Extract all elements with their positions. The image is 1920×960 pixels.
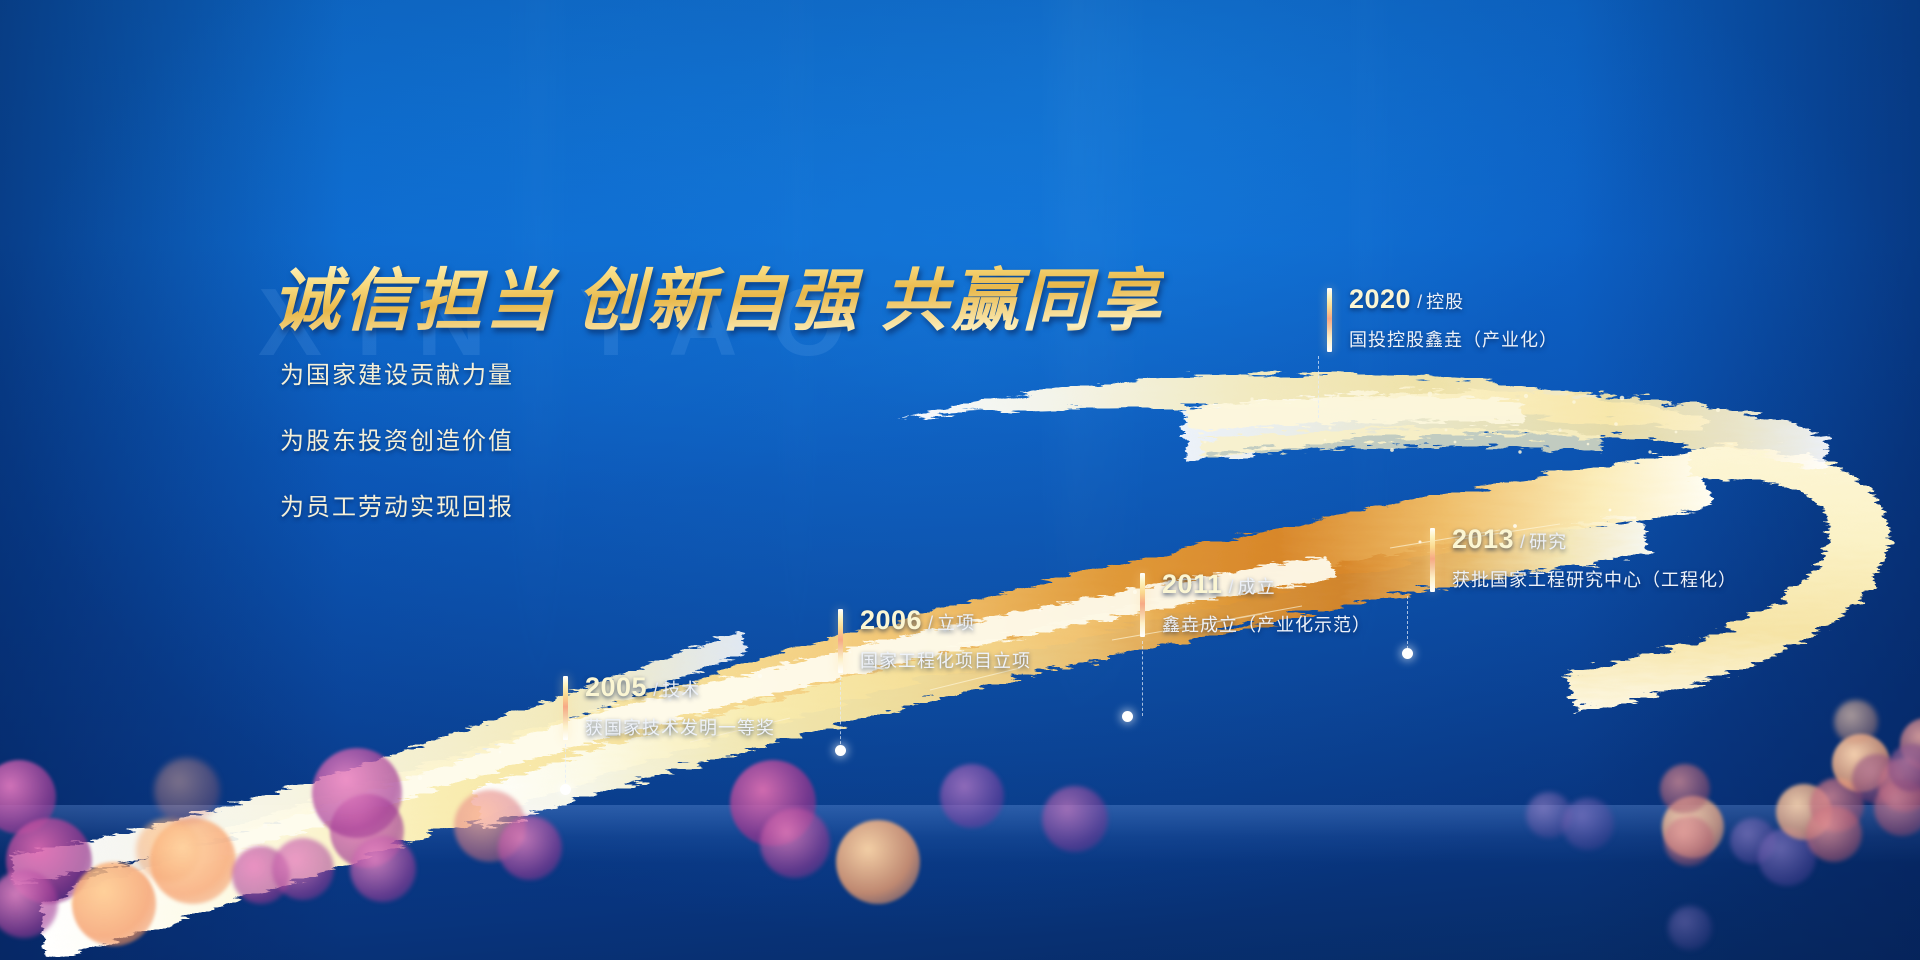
timeline-headline: 2013/研究 [1452,526,1737,553]
timeline-year: 2020 [1349,284,1411,314]
timeline-separator: / [1417,292,1422,312]
timeline-marker-dot-2005[interactable] [560,784,571,795]
timeline-leader-line-2006 [840,677,841,749]
timeline-description: 鑫垚成立（产业化示范） [1162,611,1371,637]
timeline-leader-line-2020 [1318,356,1319,418]
timeline-accent-bar [838,609,843,673]
timeline-accent-bar [563,676,568,740]
slogan-item: 为员工劳动实现回报 [280,487,514,522]
timeline-description: 获批国家工程研究中心（工程化） [1452,566,1737,592]
slogan-item: 为国家建设贡献力量 [280,355,514,390]
timeline-headline: 2005/技术 [585,674,775,701]
poster-canvas: XIN YAO 诚信担当 创新自强 共赢同享 为国家建设贡献力量 为股东投资创造… [0,0,1920,960]
timeline-description: 国家工程化项目立项 [860,647,1031,673]
timeline-entry-2020[interactable]: 2020/控股 国投控股鑫垚（产业化） [1327,286,1558,352]
timeline-tag: 控股 [1426,292,1464,312]
timeline-leader-line-2005 [565,744,566,788]
timeline-description: 国投控股鑫垚（产业化） [1349,326,1558,352]
slogan-list: 为国家建设贡献力量 为股东投资创造价值 为员工劳动实现回报 [280,355,514,553]
timeline-headline: 2006/立项 [860,607,1031,634]
timeline-entry-2005[interactable]: 2005/技术 获国家技术发明一等奖 [563,674,775,740]
timeline-leader-line-2013 [1407,596,1408,654]
timeline-marker-dot-2013[interactable] [1402,648,1413,659]
timeline-entry-2006[interactable]: 2006/立项 国家工程化项目立项 [838,607,1031,673]
timeline-year: 2013 [1452,524,1514,554]
slogan-item: 为股东投资创造价值 [280,421,514,456]
timeline-accent-bar [1140,573,1145,637]
timeline-separator: / [653,680,658,700]
timeline-marker-dot-2006[interactable] [835,745,846,756]
timeline-leader-line-2011 [1142,641,1143,716]
timeline-year: 2005 [585,672,647,702]
timeline-description: 获国家技术发明一等奖 [585,714,775,740]
timeline-tag: 立项 [937,613,975,633]
timeline-accent-bar [1327,288,1332,352]
timeline-year: 2011 [1162,569,1223,599]
timeline-separator: / [928,613,933,633]
timeline-entry-2011[interactable]: 2011/成立 鑫垚成立（产业化示范） [1140,571,1371,637]
page-title: 诚信担当 创新自强 共赢同享 [272,245,1164,344]
timeline-headline: 2020/控股 [1349,286,1558,313]
timeline-accent-bar [1430,528,1435,592]
timeline-year: 2006 [860,605,922,635]
timeline-tag: 成立 [1238,577,1276,597]
timeline-tag: 技术 [662,680,700,700]
timeline-headline: 2011/成立 [1162,571,1371,598]
timeline-separator: / [1229,577,1234,597]
timeline-tag: 研究 [1529,532,1567,552]
timeline-entry-2013[interactable]: 2013/研究 获批国家工程研究中心（工程化） [1430,526,1737,592]
timeline-marker-dot-2011[interactable] [1122,711,1133,722]
timeline-separator: / [1520,532,1525,552]
